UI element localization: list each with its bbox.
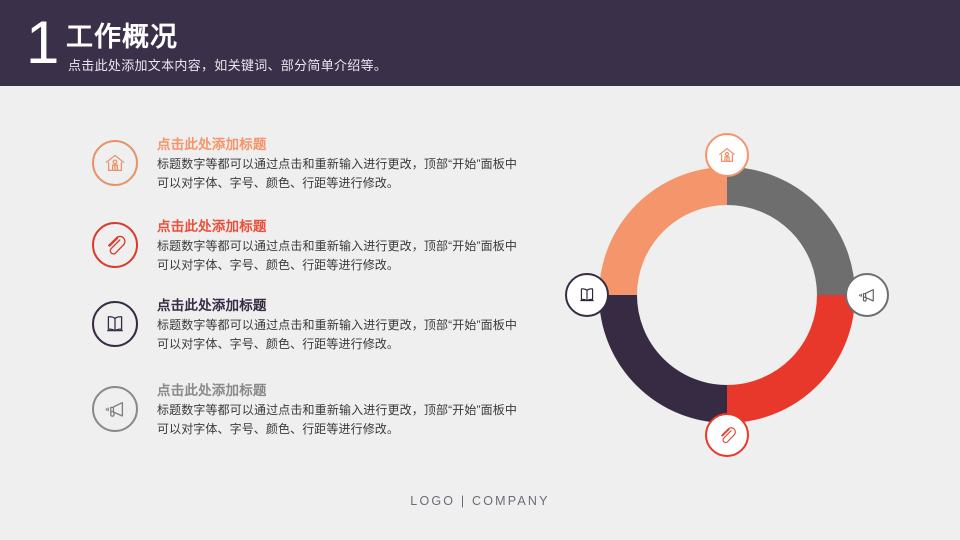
donut-badge-book[interactable] bbox=[565, 273, 609, 317]
home-icon bbox=[92, 140, 138, 186]
segment-bottom-right[interactable] bbox=[727, 295, 836, 404]
list-item-title: 点击此处添加标题 bbox=[157, 218, 517, 235]
list-item-body: 标题数字等都可以通过点击和重新输入进行更改，顶部“开始”面板中可以对字体、字号、… bbox=[157, 316, 517, 354]
donut-badge-home[interactable] bbox=[705, 133, 749, 177]
list-item-title: 点击此处添加标题 bbox=[157, 382, 517, 399]
page-subtitle: 点击此处添加文本内容，如关键词、部分简单介绍等。 bbox=[68, 58, 387, 74]
list-item-title: 点击此处添加标题 bbox=[157, 297, 517, 314]
megaphone-icon bbox=[92, 386, 138, 432]
segment-bottom-left[interactable] bbox=[618, 295, 727, 404]
list-item-body: 标题数字等都可以通过点击和重新输入进行更改，顶部“开始”面板中可以对字体、字号、… bbox=[157, 401, 517, 439]
section-number: 1 bbox=[26, 13, 59, 73]
segment-top-right[interactable] bbox=[727, 186, 836, 295]
page-title: 工作概况 bbox=[66, 22, 178, 52]
donut-badge-paperclip[interactable] bbox=[705, 413, 749, 457]
list-item-body: 标题数字等都可以通过点击和重新输入进行更改，顶部“开始”面板中可以对字体、字号、… bbox=[157, 237, 517, 275]
book-icon bbox=[92, 301, 138, 347]
donut-badge-megaphone[interactable] bbox=[845, 273, 889, 317]
slide-header: 1 工作概况 点击此处添加文本内容，如关键词、部分简单介绍等。 bbox=[0, 0, 960, 86]
footer-logo: LOGO | COMPANY bbox=[0, 494, 960, 508]
donut-chart bbox=[579, 147, 875, 443]
list-item-body: 标题数字等都可以通过点击和重新输入进行更改，顶部“开始”面板中可以对字体、字号、… bbox=[157, 155, 517, 193]
list-item-title: 点击此处添加标题 bbox=[157, 136, 517, 153]
segment-top-left[interactable] bbox=[618, 186, 727, 295]
paperclip-icon bbox=[92, 222, 138, 268]
